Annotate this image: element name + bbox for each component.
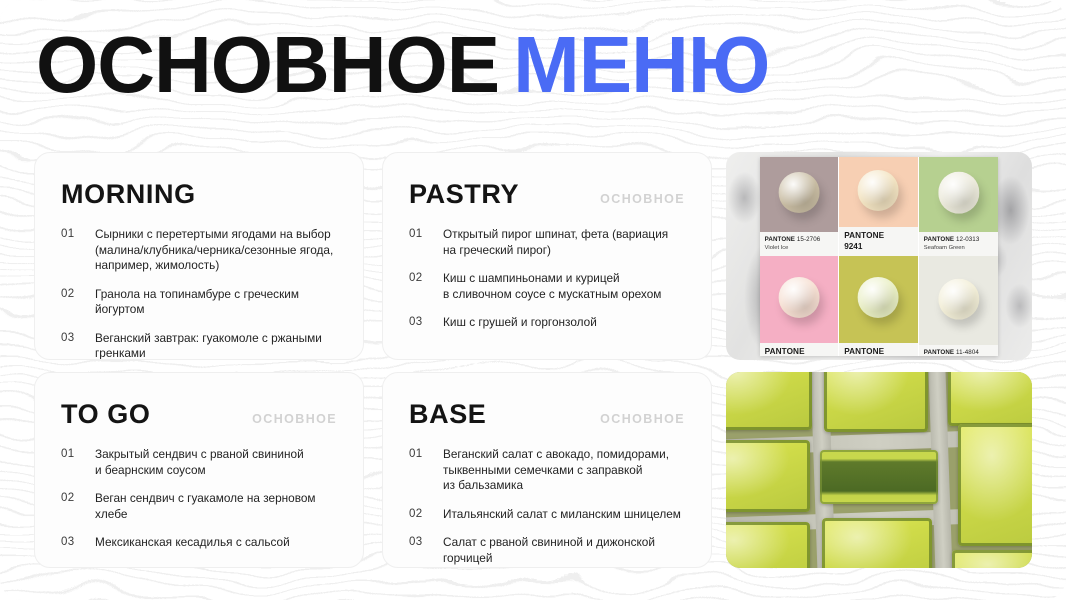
list-item[interactable]: 03 Мексиканская кесадилья с сальсой <box>61 535 337 551</box>
pantone-brand: PANTONE <box>924 236 954 243</box>
list-item-text: Киш с грушей и горгонзолой <box>443 315 685 331</box>
pantone-brand: PANTONE <box>844 231 913 241</box>
list-item-text: Итальянский салат с миланским шницелем <box>443 507 685 523</box>
list-item-number: 01 <box>61 227 95 274</box>
pantone-chip-color <box>839 256 918 342</box>
list-item-number: 02 <box>61 287 95 318</box>
list-item-text: Веганский салат с авокадо, помидорами, т… <box>443 447 685 494</box>
list-item-text: Мексиканская кесадилья с сальсой <box>95 535 337 551</box>
menu-item-list: 01 Открытый пирог шпинат, фета (вариация… <box>409 227 685 331</box>
list-item-number: 02 <box>409 271 443 302</box>
dessert-ball-icon <box>938 278 979 319</box>
list-item[interactable]: 01 Веганский салат с авокадо, помидорами… <box>409 447 685 494</box>
list-item[interactable]: 03 Киш с грушей и горгонзолой <box>409 315 685 331</box>
list-item-number: 03 <box>409 535 443 566</box>
pantone-code: 15-2706 <box>797 236 820 243</box>
pantone-brand: PANTONE <box>765 347 834 357</box>
pantone-name: Violet Ice <box>765 245 834 252</box>
pantone-name: 9241 <box>844 242 913 252</box>
list-item[interactable]: 02 Итальянский салат с миланским шницеле… <box>409 507 685 523</box>
list-item-number: 01 <box>409 227 443 258</box>
pantone-name: Seafoam Green <box>924 245 994 252</box>
pantone-code: 11-4804 <box>956 349 979 356</box>
pantone-chip: PANTONE 15-2706 Violet Ice <box>760 157 840 257</box>
list-item-text: Открытый пирог шпинат, фета (вариация на… <box>443 227 685 258</box>
list-item-text: Закрытый сендвич с рваной свининой и беа… <box>95 447 337 478</box>
pantone-chip-label: PANTONE 12-0313 Seafoam Green <box>919 232 999 256</box>
pantone-chip-label: PANTONE 11-4804 <box>919 345 999 356</box>
menu-card-base[interactable]: BASE ОСНОВНОЕ 01 Веганский салат с авока… <box>382 372 712 568</box>
pantone-chip-label: PANTONE <box>760 343 839 357</box>
card-title: BASE <box>409 399 486 429</box>
pantone-code: 12-0313 <box>956 236 979 243</box>
list-item-number: 01 <box>409 447 443 494</box>
dessert-ball-icon <box>938 172 979 213</box>
pantone-brand: PANTONE <box>924 349 954 356</box>
list-item-text: Гранола на топинамбуре с греческим йогур… <box>95 287 337 318</box>
list-item-text: Салат с рваной свининой и дижонской горч… <box>443 535 685 566</box>
list-item-number: 02 <box>61 491 95 522</box>
list-item[interactable]: 01 Открытый пирог шпинат, фета (вариация… <box>409 227 685 258</box>
list-item[interactable]: 01 Закрытый сендвич с рваной свининой и … <box>61 447 337 478</box>
matcha-photo-surface <box>726 372 1032 568</box>
pantone-chip-color <box>919 256 999 345</box>
card-header: BASE ОСНОВНОЕ <box>409 399 685 429</box>
pantone-brand: PANTONE <box>765 236 795 243</box>
card-header: TO GO ОСНОВНОЕ <box>61 399 337 429</box>
pantone-chip-label: PANTONE 15-2706 Violet Ice <box>760 232 839 256</box>
page-title-primary: ОСНОВНОЕ <box>36 20 499 109</box>
card-tag: ОСНОВНОЕ <box>252 412 337 426</box>
list-item[interactable]: 02 Киш с шампиньонами и курицей в сливоч… <box>409 271 685 302</box>
slide-root: ОСНОВНОЕМЕНЮ MORNING 01 Сырники с перете… <box>0 0 1066 600</box>
card-title: PASTRY <box>409 179 519 209</box>
pantone-chip: PANTONE 11-4804 <box>919 256 999 356</box>
list-item-text: Веган сендвич с гуакамоле на зерновом хл… <box>95 491 337 522</box>
pantone-chip-grid: PANTONE 15-2706 Violet Ice PANTONE 9241 <box>760 157 999 357</box>
pantone-chip-color <box>760 256 839 342</box>
card-tag: ОСНОВНОЕ <box>600 192 685 206</box>
menu-card-to-go[interactable]: TO GO ОСНОВНОЕ 01 Закрытый сендвич с рва… <box>34 372 364 568</box>
pantone-brand: PANTONE <box>844 347 913 357</box>
pantone-chip-color <box>919 157 999 233</box>
list-item-text: Киш с шампиньонами и курицей в сливочном… <box>443 271 685 302</box>
pantone-chip-color <box>839 157 918 227</box>
list-item-number: 02 <box>409 507 443 523</box>
dessert-ball-icon <box>858 277 899 318</box>
card-header: PASTRY ОСНОВНОЕ <box>409 179 685 209</box>
list-item-number: 03 <box>61 535 95 551</box>
list-item[interactable]: 03 Веганский завтрак: гуакомоле с ржаным… <box>61 331 337 361</box>
card-title: TO GO <box>61 399 151 429</box>
menu-card-morning[interactable]: MORNING 01 Сырники с перетертыми ягодами… <box>34 152 364 360</box>
pantone-chip-label: PANTONE 9241 <box>839 227 918 256</box>
menu-card-pastry[interactable]: PASTRY ОСНОВНОЕ 01 Открытый пирог шпинат… <box>382 152 712 360</box>
menu-item-list: 01 Веганский салат с авокадо, помидорами… <box>409 447 685 566</box>
menu-item-list: 01 Сырники с перетертыми ягодами на выбо… <box>61 227 337 360</box>
card-header: MORNING <box>61 179 337 209</box>
card-title: MORNING <box>61 179 196 209</box>
pantone-chip-color <box>760 157 839 233</box>
list-item[interactable]: 03 Салат с рваной свининой и дижонской г… <box>409 535 685 566</box>
pantone-chip-label: PANTONE <box>839 343 918 357</box>
pantone-chip: PANTONE 12-0313 Seafoam Green <box>919 157 999 257</box>
list-item-number: 03 <box>409 315 443 331</box>
matcha-brownies-photo <box>726 372 1032 568</box>
card-tag: ОСНОВНОЕ <box>600 412 685 426</box>
pantone-swatch-photo: PANTONE 15-2706 Violet Ice PANTONE 9241 <box>726 152 1032 360</box>
dessert-ball-icon <box>858 170 899 211</box>
page-title: ОСНОВНОЕМЕНЮ <box>36 22 769 108</box>
pantone-chip: PANTONE <box>760 256 840 356</box>
pantone-chip: PANTONE 9241 <box>839 157 919 257</box>
list-item-text: Веганский завтрак: гуакомоле с ржаными г… <box>95 331 337 361</box>
menu-item-list: 01 Закрытый сендвич с рваной свининой и … <box>61 447 337 551</box>
page-title-accent: МЕНЮ <box>513 20 769 109</box>
list-item-number: 03 <box>61 331 95 361</box>
list-item-text: Сырники с перетертыми ягодами на выбор (… <box>95 227 337 274</box>
dessert-ball-icon <box>779 172 820 213</box>
pantone-chip: PANTONE <box>839 256 919 356</box>
list-item[interactable]: 02 Веган сендвич с гуакамоле на зерновом… <box>61 491 337 522</box>
dessert-ball-icon <box>779 277 820 318</box>
list-item[interactable]: 01 Сырники с перетертыми ягодами на выбо… <box>61 227 337 274</box>
list-item[interactable]: 02 Гранола на топинамбуре с греческим йо… <box>61 287 337 318</box>
list-item-number: 01 <box>61 447 95 478</box>
